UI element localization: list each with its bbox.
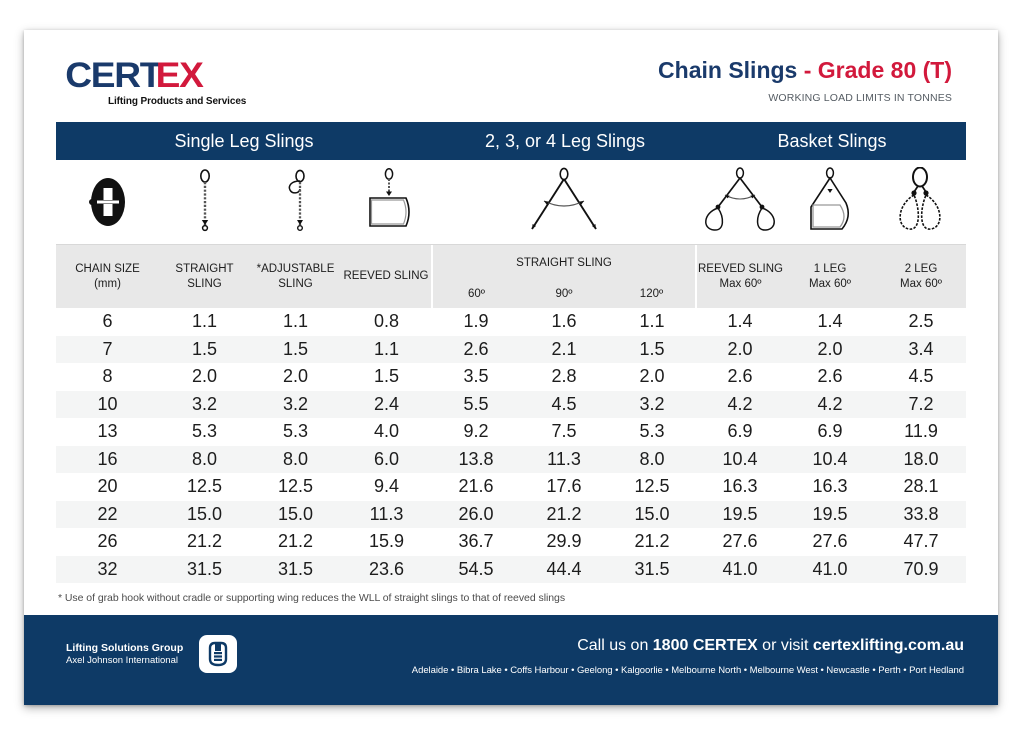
col-header-reeved-sling: REEVED SLING <box>341 245 432 308</box>
cell-wll-value: 28.1 <box>876 473 966 501</box>
cell-wll-value: 8.0 <box>250 446 341 474</box>
spec-card: CERTEX Lifting Products and Services Cha… <box>24 30 998 705</box>
col-header-adjustable-sling: *ADJUSTABLE SLING <box>250 245 341 308</box>
table-row: 82.02.01.53.52.82.02.62.64.5 <box>56 363 966 391</box>
col-header-one-leg: 1 LEG Max 60º <box>784 245 876 308</box>
cell-wll-value: 3.2 <box>250 391 341 419</box>
cell-wll-value: 10.4 <box>784 446 876 474</box>
cell-wll-value: 23.6 <box>341 556 432 584</box>
cell-wll-value: 21.2 <box>159 528 250 556</box>
cell-wll-value: 1.1 <box>159 308 250 336</box>
cell-wll-value: 6.9 <box>784 418 876 446</box>
cell-wll-value: 1.9 <box>432 308 520 336</box>
card-header: CERTEX Lifting Products and Services Cha… <box>24 30 998 122</box>
table-row: 3231.531.523.654.544.431.541.041.070.9 <box>56 556 966 584</box>
cell-wll-value: 3.2 <box>608 391 696 419</box>
cell-wll-value: 6.0 <box>341 446 432 474</box>
pictogram-two-leg-straight-sling <box>432 160 696 244</box>
footer-group-name: Lifting Solutions Group <box>66 641 183 655</box>
cell-wll-value: 4.2 <box>696 391 784 419</box>
cell-wll-value: 17.6 <box>520 473 608 501</box>
cell-wll-value: 10.4 <box>696 446 784 474</box>
table-row: 168.08.06.013.811.38.010.410.418.0 <box>56 446 966 474</box>
col-header-angle-120: 120º <box>608 281 696 308</box>
cell-chain-size: 7 <box>56 336 159 364</box>
footer-brand-block: Lifting Solutions Group Axel Johnson Int… <box>66 635 237 673</box>
cell-chain-size: 8 <box>56 363 159 391</box>
cell-wll-value: 9.2 <box>432 418 520 446</box>
cell-wll-value: 12.5 <box>250 473 341 501</box>
footer-parent-name: Axel Johnson International <box>66 655 183 668</box>
cell-wll-value: 1.6 <box>520 308 608 336</box>
cell-wll-value: 2.0 <box>159 363 250 391</box>
cell-wll-value: 41.0 <box>784 556 876 584</box>
table-body: 61.11.10.81.91.61.11.41.42.571.51.51.12.… <box>56 308 966 583</box>
cell-chain-size: 6 <box>56 308 159 336</box>
table-row: 71.51.51.12.62.11.52.02.03.4 <box>56 336 966 364</box>
group-header-bar: Single Leg Slings 2, 3, or 4 Leg Slings … <box>56 122 966 160</box>
cell-wll-value: 70.9 <box>876 556 966 584</box>
logo-ex-text: EX <box>156 58 203 93</box>
cell-wll-value: 12.5 <box>159 473 250 501</box>
cell-wll-value: 4.5 <box>520 391 608 419</box>
cell-wll-value: 1.5 <box>250 336 341 364</box>
cell-wll-value: 29.9 <box>520 528 608 556</box>
cell-wll-value: 11.9 <box>876 418 966 446</box>
table-row: 103.23.22.45.54.53.24.24.27.2 <box>56 391 966 419</box>
cell-wll-value: 1.1 <box>341 336 432 364</box>
cell-wll-value: 27.6 <box>696 528 784 556</box>
cell-wll-value: 2.6 <box>784 363 876 391</box>
footer-call-prefix: Call us on <box>577 637 653 654</box>
pictogram-basket-two-leg <box>876 160 964 244</box>
cell-wll-value: 2.0 <box>696 336 784 364</box>
cell-wll-value: 2.6 <box>696 363 784 391</box>
cell-wll-value: 15.0 <box>159 501 250 529</box>
table-row: 61.11.10.81.91.61.11.41.42.5 <box>56 308 966 336</box>
cell-wll-value: 21.2 <box>608 528 696 556</box>
table-row: 2621.221.215.936.729.921.227.627.647.7 <box>56 528 966 556</box>
cell-wll-value: 3.2 <box>159 391 250 419</box>
cell-wll-value: 36.7 <box>432 528 520 556</box>
cell-wll-value: 31.5 <box>159 556 250 584</box>
logo-tagline: Lifting Products and Services <box>108 96 328 107</box>
two-leg-reeved-sling-icon <box>698 167 782 237</box>
pictogram-basket-one-leg <box>784 160 876 244</box>
col-header-angle-90: 90º <box>520 281 608 308</box>
col-header-straight-sling-group: STRAIGHT SLING <box>432 245 696 281</box>
cell-wll-value: 5.3 <box>250 418 341 446</box>
cell-wll-value: 3.5 <box>432 363 520 391</box>
col-header-angle-60: 60º <box>432 281 520 308</box>
cell-wll-value: 1.1 <box>250 308 341 336</box>
cell-wll-value: 27.6 <box>784 528 876 556</box>
cell-wll-value: 1.4 <box>696 308 784 336</box>
straight-sling-icon <box>193 169 217 235</box>
page-title-main: Chain Slings <box>658 57 797 83</box>
wll-table: CHAIN SIZE (mm) STRAIGHT SLING *ADJUSTAB… <box>56 245 966 583</box>
footer-call-mid: or visit <box>758 637 813 654</box>
table-head: CHAIN SIZE (mm) STRAIGHT SLING *ADJUSTAB… <box>56 245 966 308</box>
cell-wll-value: 54.5 <box>432 556 520 584</box>
col-header-two-leg: 2 LEG Max 60º <box>876 245 966 308</box>
cell-wll-value: 26.0 <box>432 501 520 529</box>
cell-wll-value: 33.8 <box>876 501 966 529</box>
cell-wll-value: 16.3 <box>784 473 876 501</box>
cell-wll-value: 15.0 <box>250 501 341 529</box>
cell-wll-value: 7.2 <box>876 391 966 419</box>
page-root: CERTEX Lifting Products and Services Cha… <box>0 0 1022 735</box>
cell-chain-size: 13 <box>56 418 159 446</box>
cell-wll-value: 2.0 <box>608 363 696 391</box>
adjustable-sling-icon <box>279 169 313 235</box>
cell-wll-value: 44.4 <box>520 556 608 584</box>
cell-wll-value: 2.5 <box>876 308 966 336</box>
table-footnote: * Use of grab hook without cradle or sup… <box>58 592 964 604</box>
table-row: 135.35.34.09.27.55.36.96.911.9 <box>56 418 966 446</box>
cell-wll-value: 18.0 <box>876 446 966 474</box>
cell-wll-value: 4.5 <box>876 363 966 391</box>
pictogram-straight-sling <box>159 160 250 244</box>
certex-logo: CERTEX Lifting Products and Services <box>68 58 328 107</box>
cell-wll-value: 13.8 <box>432 446 520 474</box>
cell-wll-value: 1.1 <box>608 308 696 336</box>
table-row: 2215.015.011.326.021.215.019.519.533.8 <box>56 501 966 529</box>
cell-wll-value: 6.9 <box>696 418 784 446</box>
cell-wll-value: 31.5 <box>250 556 341 584</box>
logo-cert-text: CERT <box>65 58 161 93</box>
cell-wll-value: 19.5 <box>696 501 784 529</box>
title-block: Chain Slings - Grade 80 (T) WORKING LOAD… <box>658 58 952 104</box>
cell-wll-value: 2.0 <box>250 363 341 391</box>
cell-wll-value: 5.3 <box>159 418 250 446</box>
cell-wll-value: 2.8 <box>520 363 608 391</box>
reeved-sling-icon <box>358 168 416 236</box>
cell-wll-value: 15.0 <box>608 501 696 529</box>
card-footer: Lifting Solutions Group Axel Johnson Int… <box>24 615 998 705</box>
pictogram-row <box>56 160 966 245</box>
cell-chain-size: 20 <box>56 473 159 501</box>
cell-wll-value: 4.0 <box>341 418 432 446</box>
cell-wll-value: 21.2 <box>520 501 608 529</box>
cell-wll-value: 11.3 <box>520 446 608 474</box>
cell-wll-value: 8.0 <box>608 446 696 474</box>
cell-wll-value: 21.6 <box>432 473 520 501</box>
axel-johnson-logo-icon <box>199 635 237 673</box>
cell-wll-value: 12.5 <box>608 473 696 501</box>
cell-wll-value: 1.5 <box>341 363 432 391</box>
chain-link-icon <box>87 171 129 233</box>
cell-chain-size: 32 <box>56 556 159 584</box>
cell-wll-value: 15.9 <box>341 528 432 556</box>
cell-wll-value: 19.5 <box>784 501 876 529</box>
cell-wll-value: 41.0 <box>696 556 784 584</box>
footer-website-link[interactable]: certexlifting.com.au <box>813 637 964 654</box>
cell-wll-value: 7.5 <box>520 418 608 446</box>
cell-wll-value: 5.5 <box>432 391 520 419</box>
cell-wll-value: 2.1 <box>520 336 608 364</box>
footer-contact-block: Call us on 1800 CERTEX or visit certexli… <box>324 637 964 676</box>
cell-wll-value: 2.4 <box>341 391 432 419</box>
cell-wll-value: 11.3 <box>341 501 432 529</box>
cell-chain-size: 22 <box>56 501 159 529</box>
cell-wll-value: 9.4 <box>341 473 432 501</box>
cell-chain-size: 10 <box>56 391 159 419</box>
cell-chain-size: 16 <box>56 446 159 474</box>
cell-wll-value: 47.7 <box>876 528 966 556</box>
cell-wll-value: 4.2 <box>784 391 876 419</box>
cell-wll-value: 21.2 <box>250 528 341 556</box>
table-head-row-1: CHAIN SIZE (mm) STRAIGHT SLING *ADJUSTAB… <box>56 245 966 281</box>
cell-wll-value: 2.6 <box>432 336 520 364</box>
cell-wll-value: 1.4 <box>784 308 876 336</box>
page-title-accent: - Grade 80 (T) <box>797 57 952 83</box>
cell-wll-value: 31.5 <box>608 556 696 584</box>
footer-brand-text: Lifting Solutions Group Axel Johnson Int… <box>66 641 183 668</box>
pictogram-two-leg-reeved-sling <box>696 160 784 244</box>
pictogram-adjustable-sling <box>250 160 341 244</box>
footer-locations: Adelaide • Bibra Lake • Coffs Harbour • … <box>324 665 964 676</box>
col-header-chain-size: CHAIN SIZE (mm) <box>56 245 159 308</box>
cell-wll-value: 3.4 <box>876 336 966 364</box>
col-header-straight-sling: STRAIGHT SLING <box>159 245 250 308</box>
basket-one-leg-icon <box>800 167 860 237</box>
pictogram-chain-size <box>56 160 159 244</box>
cell-wll-value: 0.8 <box>341 308 432 336</box>
table-row: 2012.512.59.421.617.612.516.316.328.1 <box>56 473 966 501</box>
col-header-reeved-sling-group: REEVED SLING Max 60º <box>696 245 784 308</box>
cell-wll-value: 1.5 <box>159 336 250 364</box>
cell-wll-value: 1.5 <box>608 336 696 364</box>
cell-chain-size: 26 <box>56 528 159 556</box>
page-subtitle: WORKING LOAD LIMITS IN TONNES <box>658 92 952 104</box>
footer-phone[interactable]: 1800 CERTEX <box>653 637 758 654</box>
cell-wll-value: 5.3 <box>608 418 696 446</box>
pictogram-reeved-sling <box>341 160 432 244</box>
cell-wll-value: 8.0 <box>159 446 250 474</box>
axel-johnson-mark-icon <box>203 639 233 669</box>
group-single-leg: Single Leg Slings <box>56 131 432 152</box>
basket-two-leg-icon <box>889 167 951 237</box>
logo-wordmark: CERTEX <box>68 58 328 93</box>
footer-call-line: Call us on 1800 CERTEX or visit certexli… <box>324 637 964 655</box>
group-basket: Basket Slings <box>698 131 966 152</box>
cell-wll-value: 16.3 <box>696 473 784 501</box>
two-leg-straight-sling-icon <box>504 167 624 237</box>
cell-wll-value: 2.0 <box>784 336 876 364</box>
page-title: Chain Slings - Grade 80 (T) <box>658 58 952 83</box>
group-multi-leg: 2, 3, or 4 Leg Slings <box>432 131 698 152</box>
